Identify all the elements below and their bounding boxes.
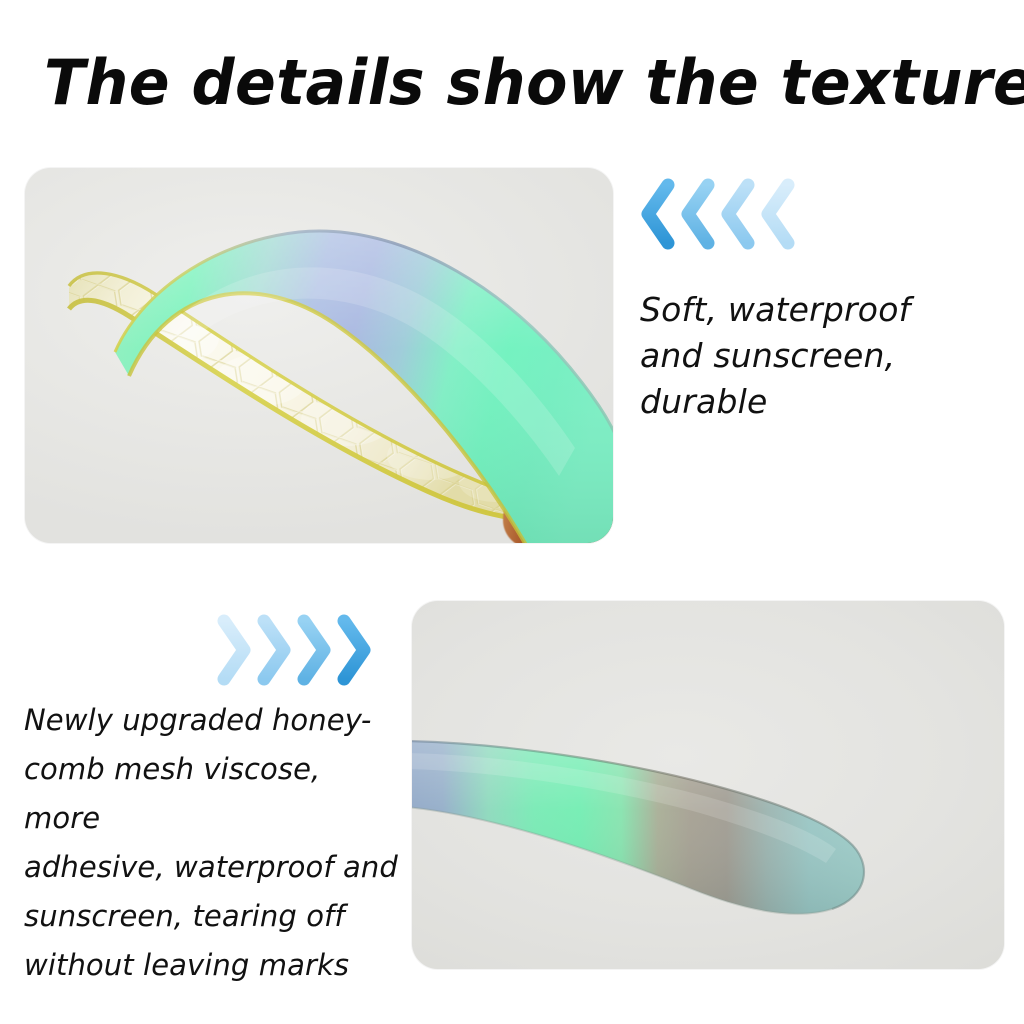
chevron-right-icon [212,613,252,687]
holographic-tape-strip-photo [412,601,1004,969]
iridescent-tape-face [25,176,613,543]
chevron-right-icon [252,613,292,687]
page-title: The details show the texture [44,44,952,122]
tape-strip-illustration [412,601,1004,969]
chevron-right-icon [292,613,332,687]
chevron-left-icon [677,177,717,251]
caption-soft-waterproof: Soft, waterproof and sunscreen, durable [640,287,1012,425]
chevron-left-icon-group [637,177,795,251]
chevron-left-icon [717,177,757,251]
chevron-right-icon-group [212,612,372,688]
chevron-left-icon [637,177,677,251]
chevron-right-icon [332,613,372,687]
holographic-tape-loop-photo [25,168,613,543]
chevron-left-icon [757,177,797,251]
caption-honeycomb-mesh: Newly upgraded honey- comb mesh viscose,… [24,696,402,990]
tape-loop-illustration [25,168,613,543]
iridescent-strip [412,601,1004,969]
